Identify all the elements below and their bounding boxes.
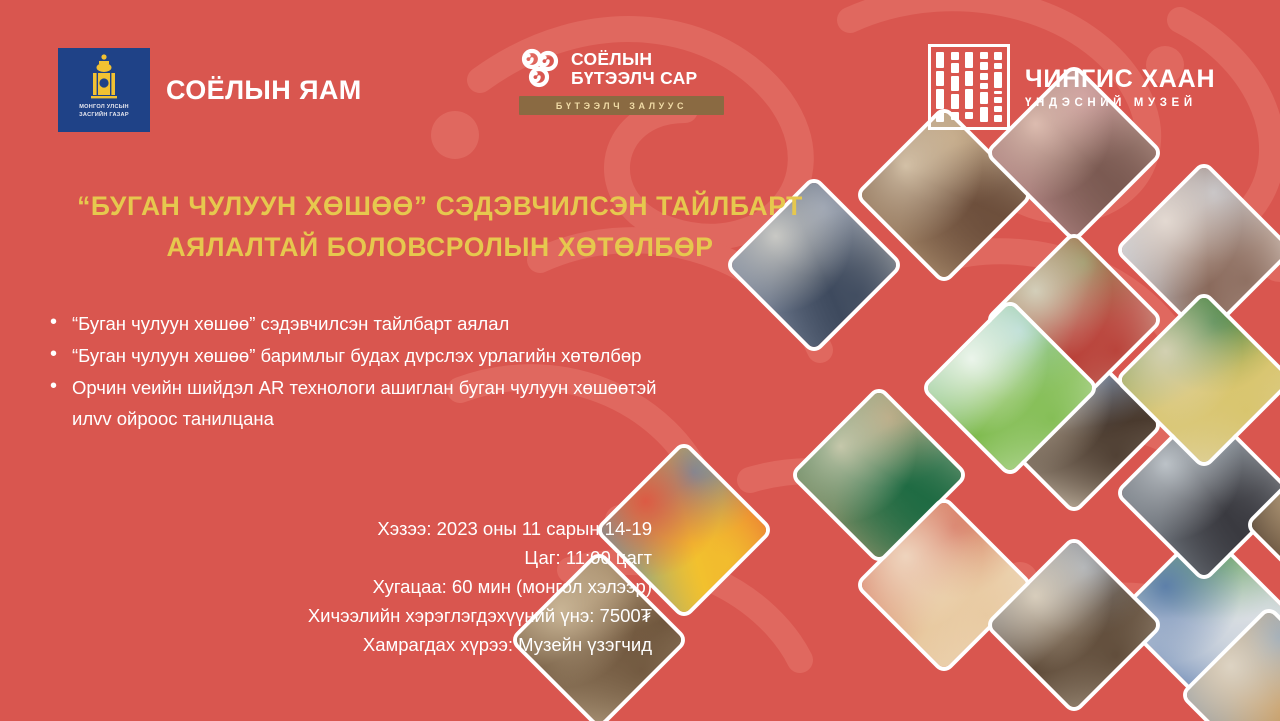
script-glyph [951,63,959,73]
creative-logo-top: СОЁЛЫН БҮТЭЭЛЧ САР [519,47,724,91]
script-glyph [994,91,1002,95]
script-glyph [951,52,959,60]
photo-two-boys-outdoors [983,229,1164,410]
photo-girl-blue-uniform [983,334,1164,515]
script-glyph [980,62,988,70]
creative-logo-words: СОЁЛЫН БҮТЭЭЛЧ САР [571,50,697,88]
photo-content [919,297,1100,478]
photo-texture [1113,289,1280,470]
detail-line: Хамрагдах хүрээ: Музейн үзэгчид [0,630,652,659]
photo-content [1113,524,1280,705]
photo-kids-yellow-table [1243,564,1280,721]
program-bullet-list: “Буган чулуун хөшөө” сэдэвчилсэн тайлбар… [44,308,684,435]
photo-students-writing [983,534,1164,715]
script-glyph [965,112,973,119]
script-glyph [980,73,988,79]
photo-classroom-far-right [1178,604,1280,721]
ministry-of-culture-logo: МОНГОЛ УЛСЫН ЗАСГИЙН ГАЗАР СОЁЛЫН ЯАМ [58,48,362,132]
soyombo-icon [87,53,121,103]
photo-content [853,494,1034,675]
photo-group-outdoor-photo [1113,402,1280,583]
script-glyph [980,52,988,59]
script-glyph [994,72,1002,87]
photo-texture [983,334,1164,515]
script-glyph [994,97,1002,102]
photo-content [1243,434,1280,615]
title-line-2: АЯЛАЛТАЙ БОЛОВСРОЛЫН ХӨТӨЛБӨР [0,227,880,268]
photo-texture [1113,524,1280,705]
script-glyph [936,112,944,122]
title-line-1: “БУГАН ЧУЛУУН ХӨШӨӨ” СЭДЭВЧИЛСЭН ТАЙЛБАР… [0,186,880,227]
emblem-line-2: ЗАСГИЙН ГАЗАР [79,111,129,119]
photo-texture [983,229,1164,410]
photo-landscape-icon [919,297,1100,478]
photo-texture [853,494,1034,675]
photo-content [983,534,1164,715]
detail-line: Хичээлийн хэрэглэгдэхүүний үнэ: 7500₮ [0,601,652,630]
photo-content [1113,159,1280,340]
photo-texture [983,534,1164,715]
bullet-item: Орчин vеийн шийдэл AR технологи ашиглан … [44,372,684,434]
script-column [936,52,944,122]
triple-spiral-icon [519,47,561,91]
photo-content [1243,564,1280,721]
page-title: “БУГАН ЧУЛУУН ХӨШӨӨ” СЭДЭВЧИЛСЭН ТАЙЛБАР… [0,186,880,268]
script-glyph [980,107,988,122]
chinggis-khaan-museum-logo: ЧИНГИС ХААН ҮНДЭСНИЙ МУЗЕЙ [928,44,1215,130]
script-column [994,52,1002,122]
script-glyph [994,106,1002,112]
photo-texture [1178,604,1280,721]
script-glyph [965,89,973,109]
creative-band-text: БҮТЭЭЛЧ ЗАЛУУС [556,101,687,111]
photo-children-crafting-right [1113,159,1280,340]
traditional-mongolian-script-box [928,44,1010,130]
emblem-line-1: МОНГОЛ УЛСЫН [79,103,129,111]
script-glyph [936,71,944,86]
script-glyph [936,52,944,68]
script-glyph [980,83,988,89]
script-column [980,52,988,122]
script-glyph [994,115,1002,122]
script-column [951,52,959,122]
creative-line-2: БҮТЭЭЛЧ САР [571,69,697,88]
script-glyph [936,89,944,109]
photo-content [1178,604,1280,721]
photo-content [983,334,1164,515]
museum-logo-words: ЧИНГИС ХААН ҮНДЭСНИЙ МУЗЕЙ [1025,65,1215,109]
script-glyph [994,63,1002,69]
script-glyph [965,52,973,68]
photo-woman-green-coat-class [788,384,969,565]
photo-boy-coloring-bottom [853,494,1034,675]
creative-logo-band: БҮТЭЭЛЧ ЗАЛУУС [519,96,724,115]
creative-month-logo: СОЁЛЫН БҮТЭЭЛЧ САР БҮТЭЭЛЧ ЗАЛУУС [519,47,724,115]
detail-line: Хугацаа: 60 мин (монгол хэлээр) [0,572,652,601]
script-glyph [951,76,959,91]
museum-name-label: ЧИНГИС ХААН [1025,65,1215,94]
script-glyph [951,112,959,120]
script-column [965,52,973,122]
event-details-block: Хэзээ: 2023 оны 11 сарын 14-19Цаг: 11:00… [0,514,652,659]
mongolian-state-emblem: МОНГОЛ УЛСЫН ЗАСГИЙН ГАЗАР [58,48,150,132]
photo-texture [1113,402,1280,583]
script-glyph [965,71,973,86]
photo-texture [1243,564,1280,721]
photo-dark-interior-kids [1243,434,1280,615]
script-glyph [980,92,988,104]
photo-children-green-wall [1113,524,1280,705]
photo-boy-green-jacket [1113,289,1280,470]
photo-content [1113,289,1280,470]
bullet-item: “Буган чулуун хөшөө” баримлыг будах дvрс… [44,340,684,371]
photo-texture [1243,434,1280,615]
photo-content [983,229,1164,410]
photo-texture [1113,159,1280,340]
photo-content [1113,402,1280,583]
photo-texture [919,297,1100,478]
photo-texture [788,384,969,565]
photo-content [788,384,969,565]
script-glyph [951,94,959,109]
museum-subtitle-label: ҮНДЭСНИЙ МУЗЕЙ [1025,97,1215,109]
detail-line: Цаг: 11:00 цагт [0,543,652,572]
ministry-name-label: СОЁЛЫН ЯАМ [166,75,362,106]
logo-row: МОНГОЛ УЛСЫН ЗАСГИЙН ГАЗАР СОЁЛЫН ЯАМ С [0,0,1280,150]
script-glyph [994,52,1002,60]
bullet-item: “Буган чулуун хөшөө” сэдэвчилсэн тайлбар… [44,308,684,339]
detail-line: Хэзээ: 2023 оны 11 сарын 14-19 [0,514,652,543]
creative-line-1: СОЁЛЫН [571,50,697,69]
